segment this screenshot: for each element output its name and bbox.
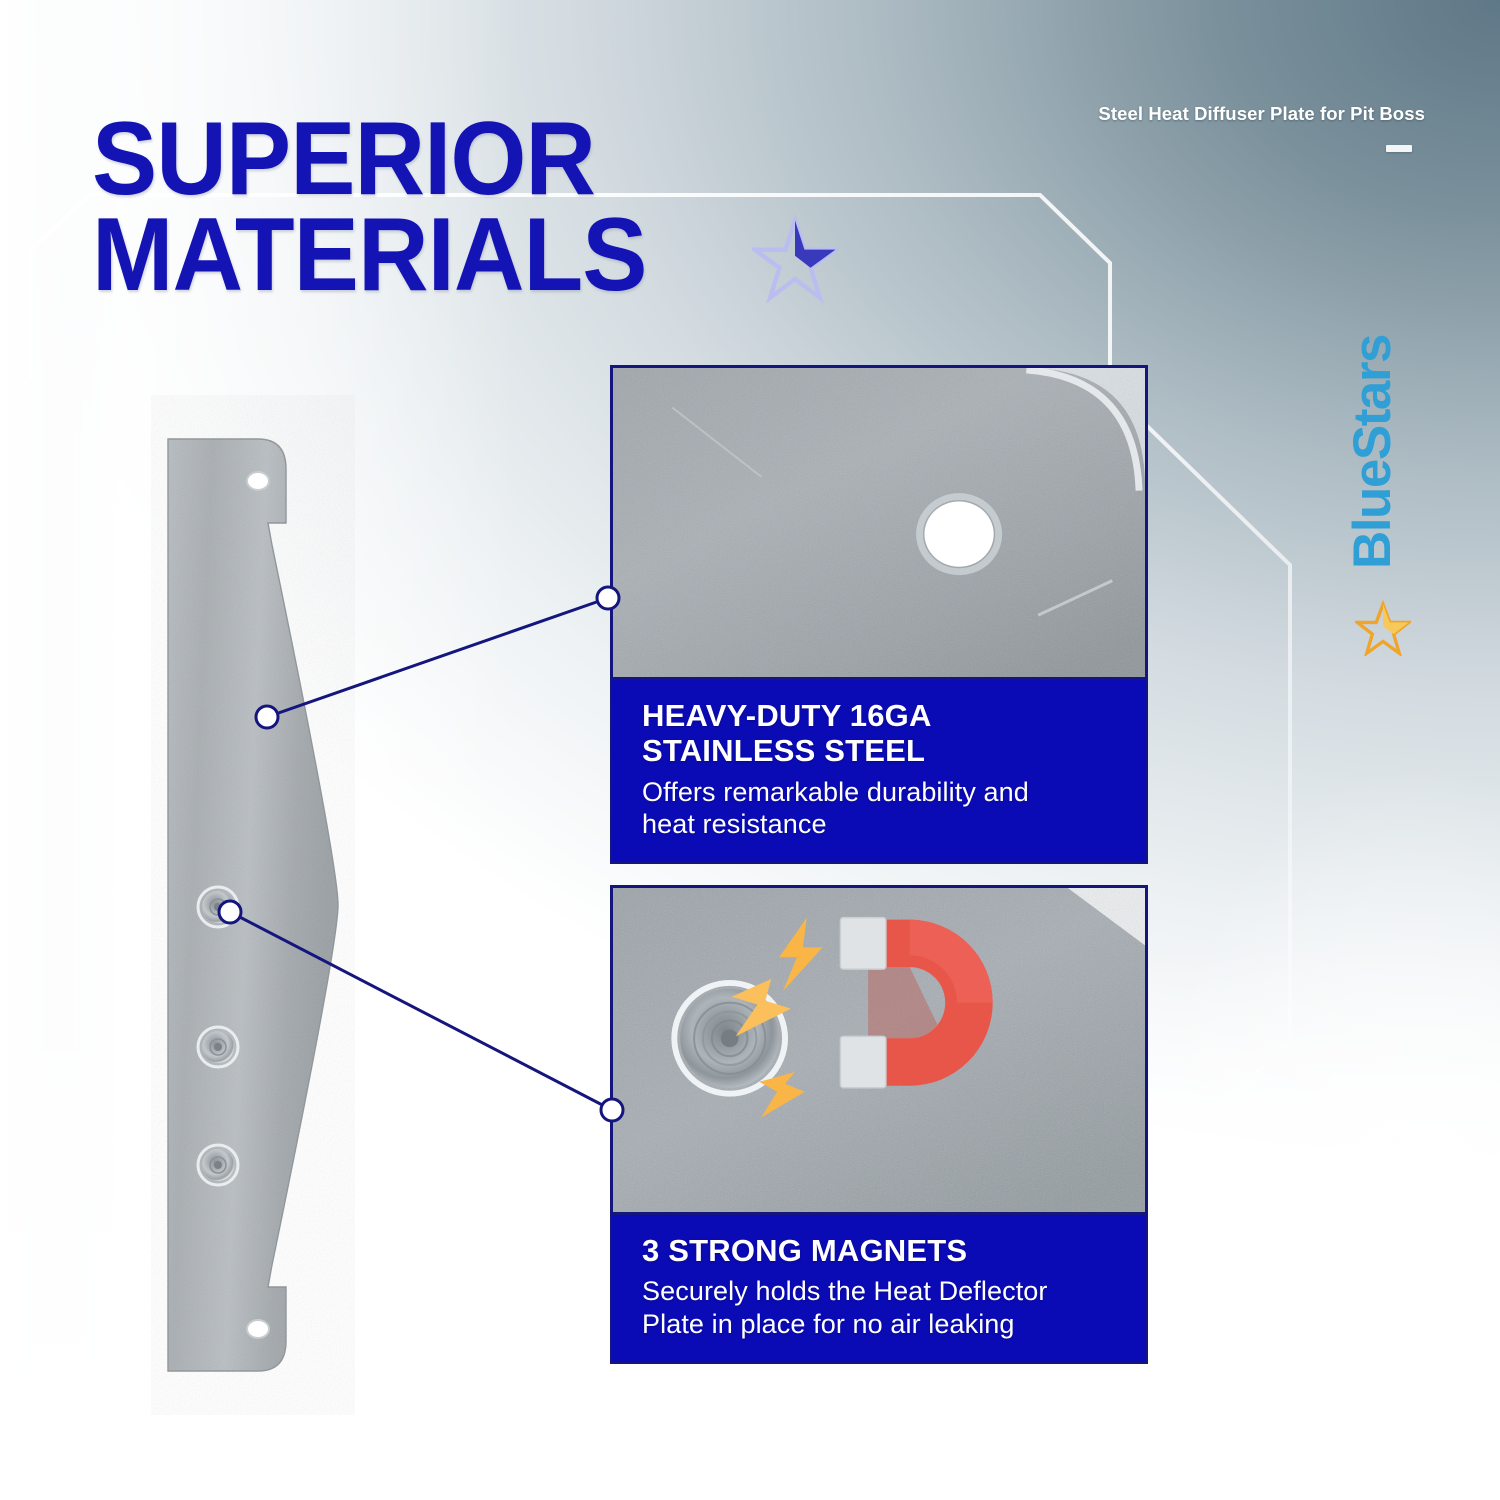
feature-photo-magnet xyxy=(610,885,1148,1215)
feature-photo-plate-corner xyxy=(610,365,1148,680)
feature-body-line-1: Securely holds the Heat Deflector xyxy=(642,1276,1048,1306)
brand-name-part-1: Blue xyxy=(1343,460,1402,569)
brand-logo-text: BlueStars xyxy=(1342,262,1408,642)
brand-star-icon xyxy=(1355,600,1411,656)
feature-card-heavy-duty-steel: HEAVY-DUTY 16GA STAINLESS STEEL Offers r… xyxy=(610,365,1148,864)
feature-caption-strong-magnets: 3 STRONG MAGNETS Securely holds the Heat… xyxy=(610,1215,1148,1364)
feature-title-line-1: 3 STRONG MAGNETS xyxy=(642,1233,967,1268)
header-rule-icon xyxy=(1386,145,1412,152)
brand-name-part-2: Stars xyxy=(1343,335,1402,460)
feature-body: Offers remarkable durability and heat re… xyxy=(642,776,1120,841)
feature-title: HEAVY-DUTY 16GA STAINLESS STEEL xyxy=(642,698,1120,769)
feature-body: Securely holds the Heat Deflector Plate … xyxy=(642,1275,1120,1340)
feature-body-line-2: Plate in place for no air leaking xyxy=(642,1309,1015,1339)
header-title: Steel Heat Diffuser Plate for Pit Boss xyxy=(1098,103,1425,125)
star-icon xyxy=(752,214,838,306)
feature-card-strong-magnets: 3 STRONG MAGNETS Securely holds the Heat… xyxy=(610,885,1148,1364)
feature-title-line-2: STAINLESS STEEL xyxy=(642,733,925,768)
feature-caption-heavy-duty-steel: HEAVY-DUTY 16GA STAINLESS STEEL Offers r… xyxy=(610,680,1148,864)
feature-body-line-1: Offers remarkable durability and xyxy=(642,777,1029,807)
product-infographic: Steel Heat Diffuser Plate for Pit Boss S… xyxy=(0,0,1500,1500)
feature-title: 3 STRONG MAGNETS xyxy=(642,1233,1120,1268)
headline-line-2: MATERIALS xyxy=(92,208,863,304)
feature-body-line-2: heat resistance xyxy=(642,809,827,839)
product-image-plate xyxy=(150,395,390,1415)
feature-title-line-1: HEAVY-DUTY 16GA xyxy=(642,698,932,733)
brand-logo: BlueStars xyxy=(1342,262,1408,642)
page-title: SUPERIOR MATERIALS xyxy=(92,112,863,303)
